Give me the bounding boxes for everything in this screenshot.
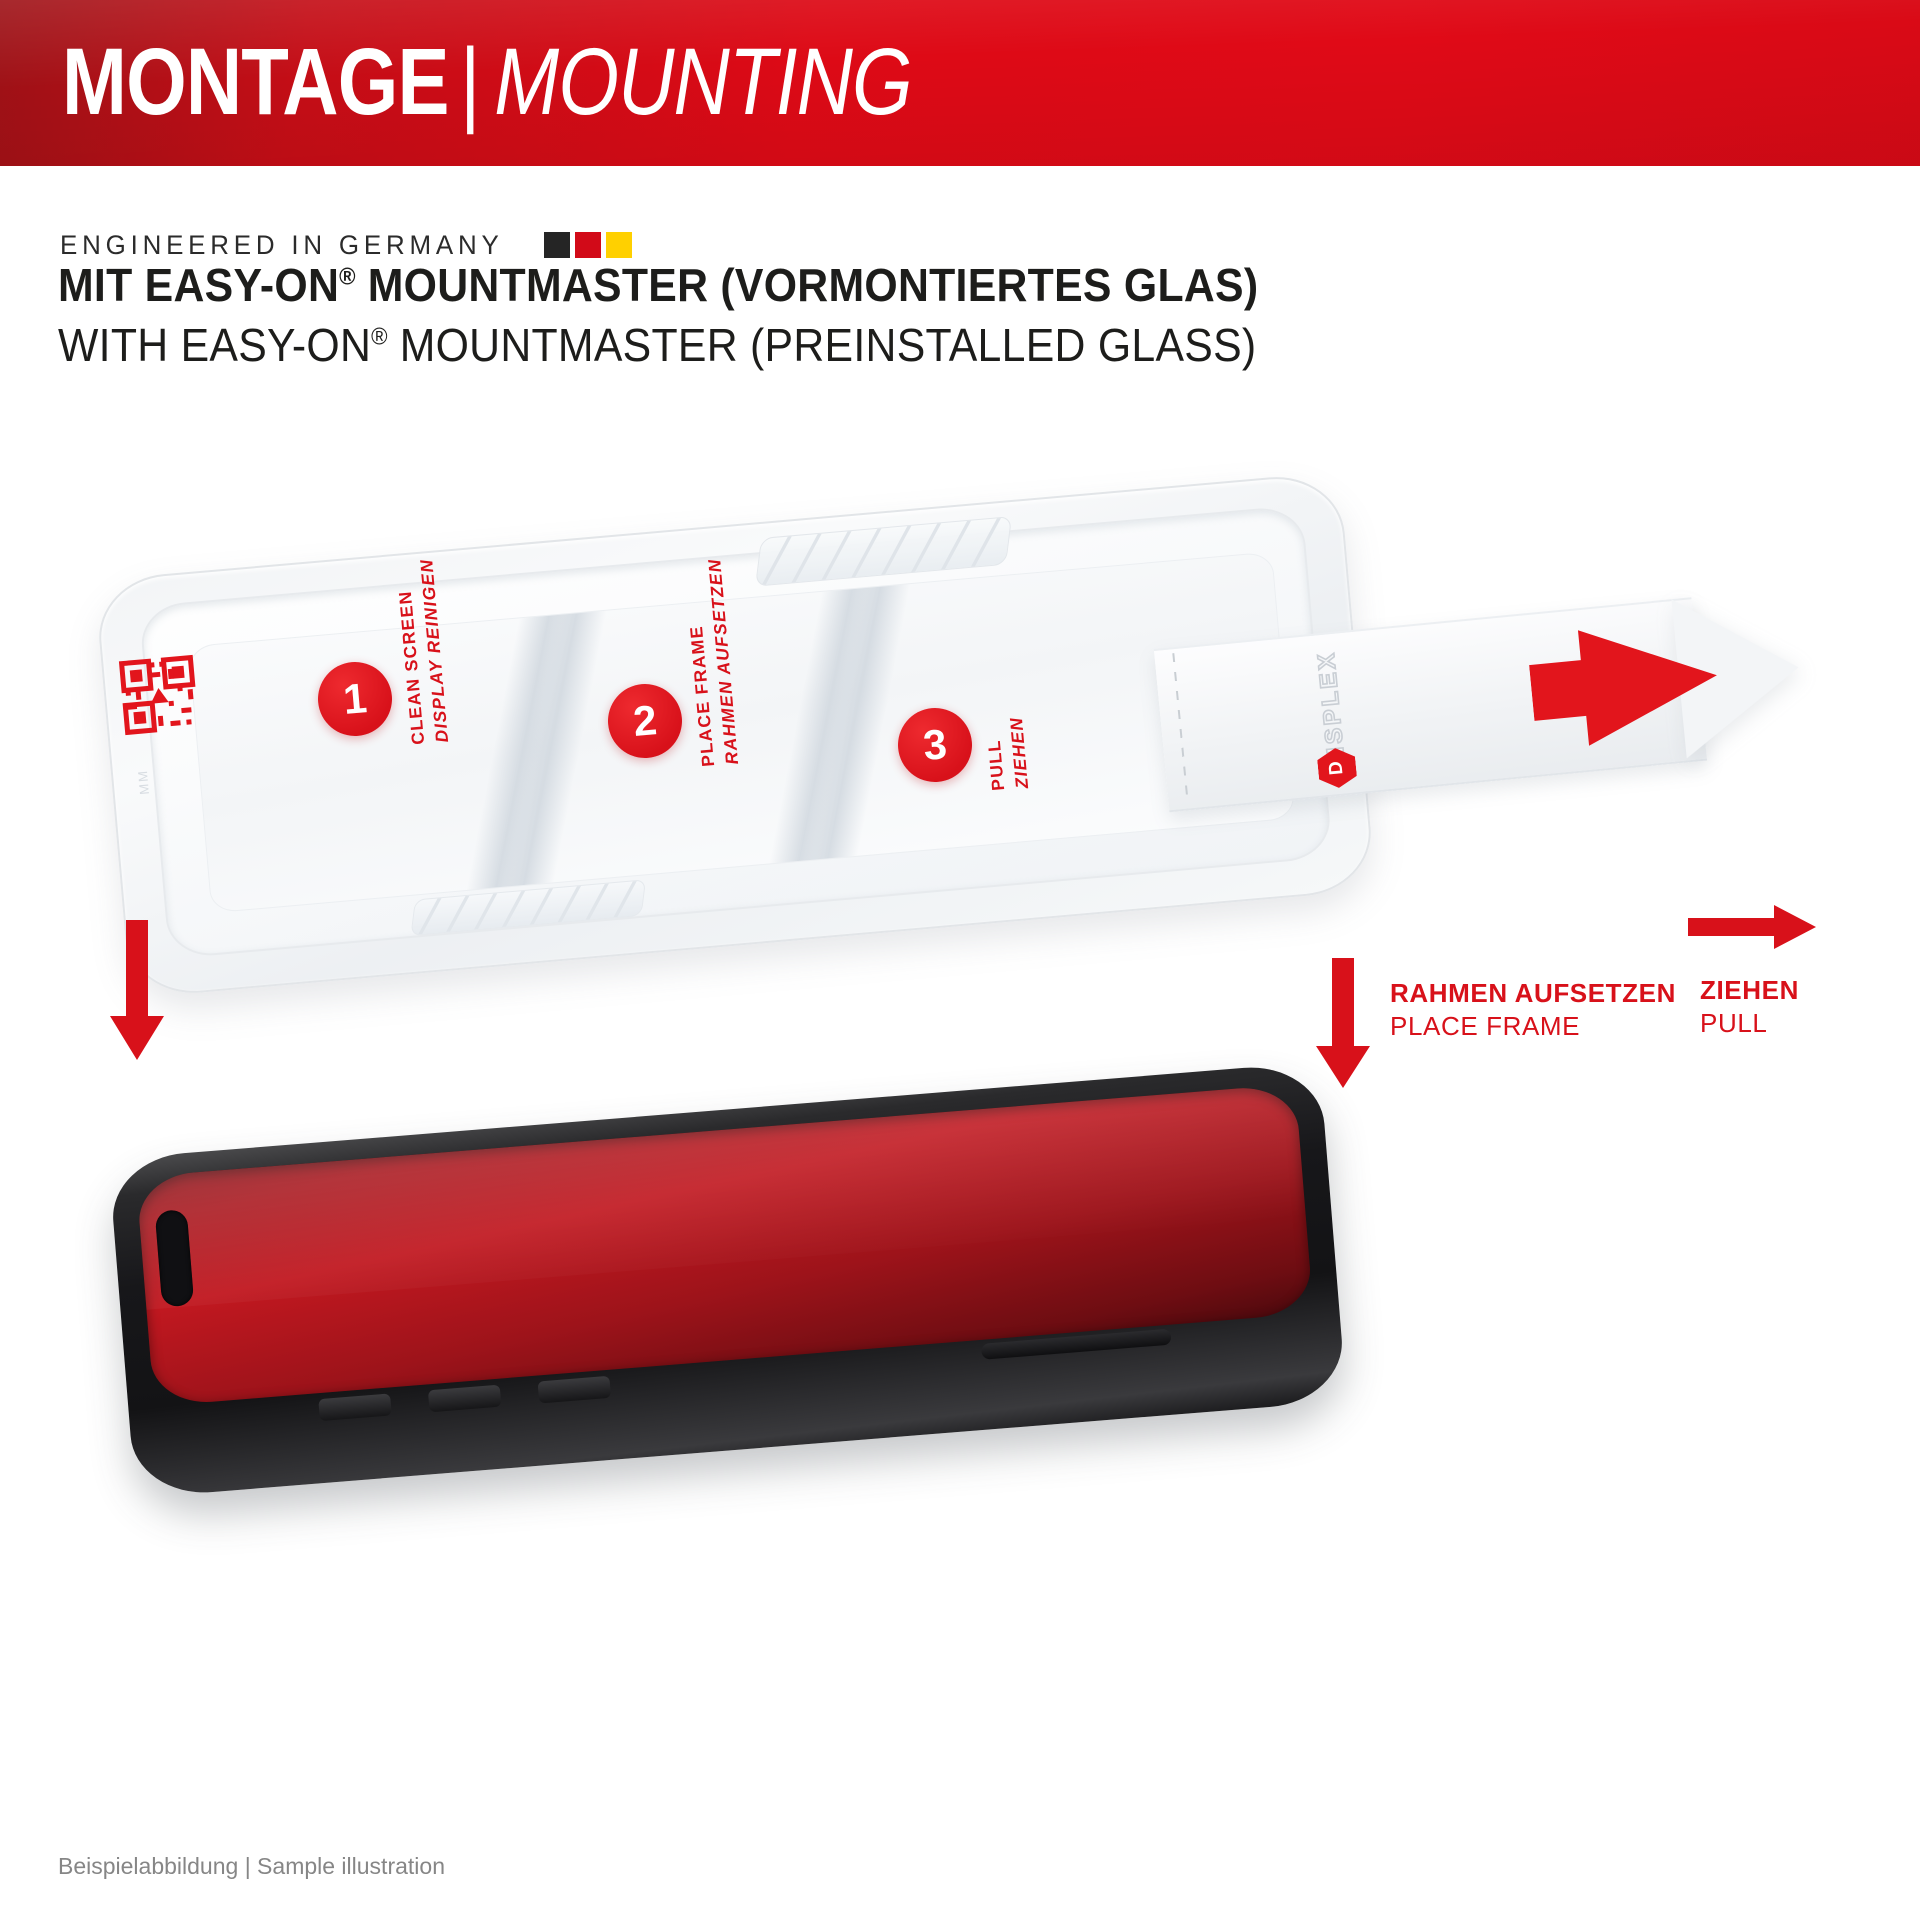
engineered-in-germany-row: ENGINEERED IN GERMANY <box>60 228 632 262</box>
headline-english: WITH EASY-ON® MOUNTMASTER (PREINSTALLED … <box>58 318 1256 372</box>
step-number-1: 1 <box>315 659 395 739</box>
headline-de-post: MOUNTMASTER (VORMONTIERTES GLAS) <box>356 259 1259 311</box>
callout-pull-en: PULL <box>1700 1008 1799 1039</box>
callout-place-frame-en: PLACE FRAME <box>1390 1011 1676 1042</box>
registered-trademark-icon: ® <box>371 324 387 351</box>
step-number-2: 2 <box>605 681 685 761</box>
qr-code-icon <box>119 655 199 735</box>
headline-german: MIT EASY-ON® MOUNTMASTER (VORMONTIERTES … <box>58 258 1258 312</box>
step-number-3: 3 <box>895 705 975 785</box>
flag-swatch-red <box>575 232 601 258</box>
page-header-banner: MONTAGE|MOUNTING <box>0 0 1920 166</box>
callout-pull-de: ZIEHEN <box>1700 975 1799 1006</box>
product-illustration: MM 1 CLEAN SCREEN DISPLAY REINIGEN 2 PLA… <box>0 430 1920 1810</box>
headline-en-pre: WITH EASY-ON <box>58 319 371 371</box>
step-marker-2: 2 PLACE FRAME RAHMEN AUFSETZEN <box>605 681 685 761</box>
flag-swatch-gold <box>606 232 632 258</box>
registered-trademark-icon: ® <box>339 264 355 291</box>
flag-swatch-black <box>544 232 570 258</box>
banner-title-separator: | <box>460 29 479 135</box>
place-frame-arrow-down-icon <box>1316 958 1370 1088</box>
engineered-in-germany-label: ENGINEERED IN GERMANY <box>60 230 504 261</box>
banner-title: MONTAGE|MOUNTING <box>62 12 912 152</box>
callout-place-frame: RAHMEN AUFSETZEN PLACE FRAME <box>1390 978 1676 1042</box>
callout-place-frame-de: RAHMEN AUFSETZEN <box>1390 978 1676 1009</box>
headline-en-post: MOUNTMASTER (PREINSTALLED GLASS) <box>388 319 1257 371</box>
banner-title-de: MONTAGE <box>62 29 449 135</box>
callout-pull: ZIEHEN PULL <box>1700 975 1799 1039</box>
german-flag-icon <box>544 232 632 258</box>
qr-center-triangle-icon <box>149 687 168 704</box>
step-marker-1: 1 CLEAN SCREEN DISPLAY REINIGEN <box>315 659 395 739</box>
pull-tab-arrow-icon <box>1525 609 1727 759</box>
step-label-3: PULL ZIEHEN <box>982 716 1033 792</box>
pull-arrow-right-icon <box>1688 905 1816 949</box>
smartphone-device <box>108 1062 1346 1498</box>
tray-side-code: MM <box>135 769 152 796</box>
step-marker-3: 3 PULL ZIEHEN <box>895 705 975 785</box>
sample-illustration-note: Beispielabbildung | Sample illustration <box>58 1853 445 1880</box>
place-frame-arrow-left-icon <box>110 920 164 1060</box>
headline-de-pre: MIT EASY-ON <box>58 259 339 311</box>
banner-title-en: MOUNTING <box>494 29 912 135</box>
displex-logo-letter: D <box>1325 760 1348 776</box>
